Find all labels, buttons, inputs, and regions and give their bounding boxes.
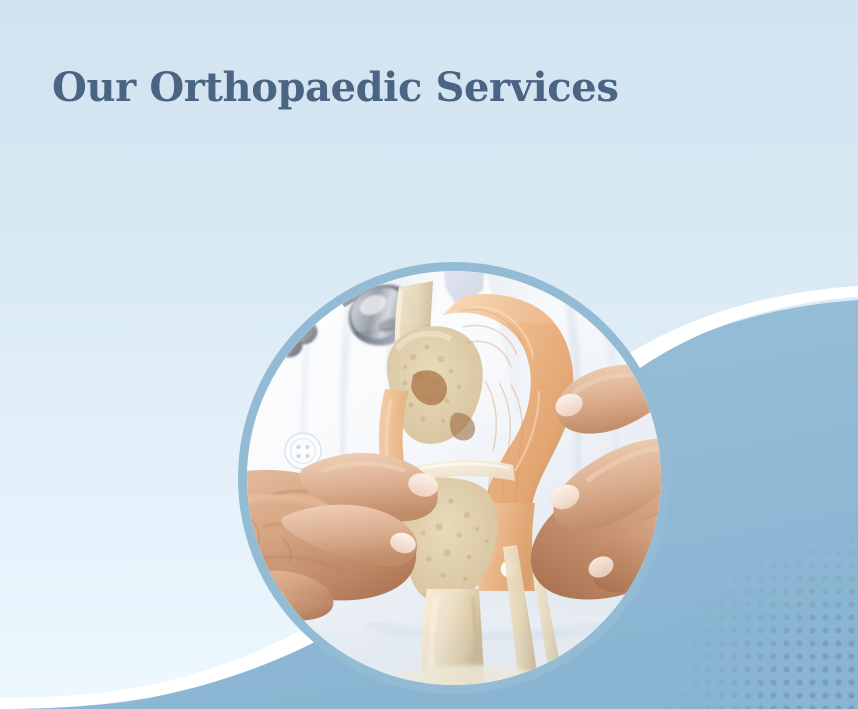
orthopaedic-photo-circle <box>238 262 670 694</box>
knee-model-illustration <box>247 271 661 685</box>
page-title: Our Orthopaedic Services <box>52 63 618 113</box>
halftone-dot-cluster <box>660 520 858 709</box>
photo-clip <box>247 271 661 685</box>
orthopaedic-services-banner: Our Orthopaedic Services <box>0 0 858 709</box>
